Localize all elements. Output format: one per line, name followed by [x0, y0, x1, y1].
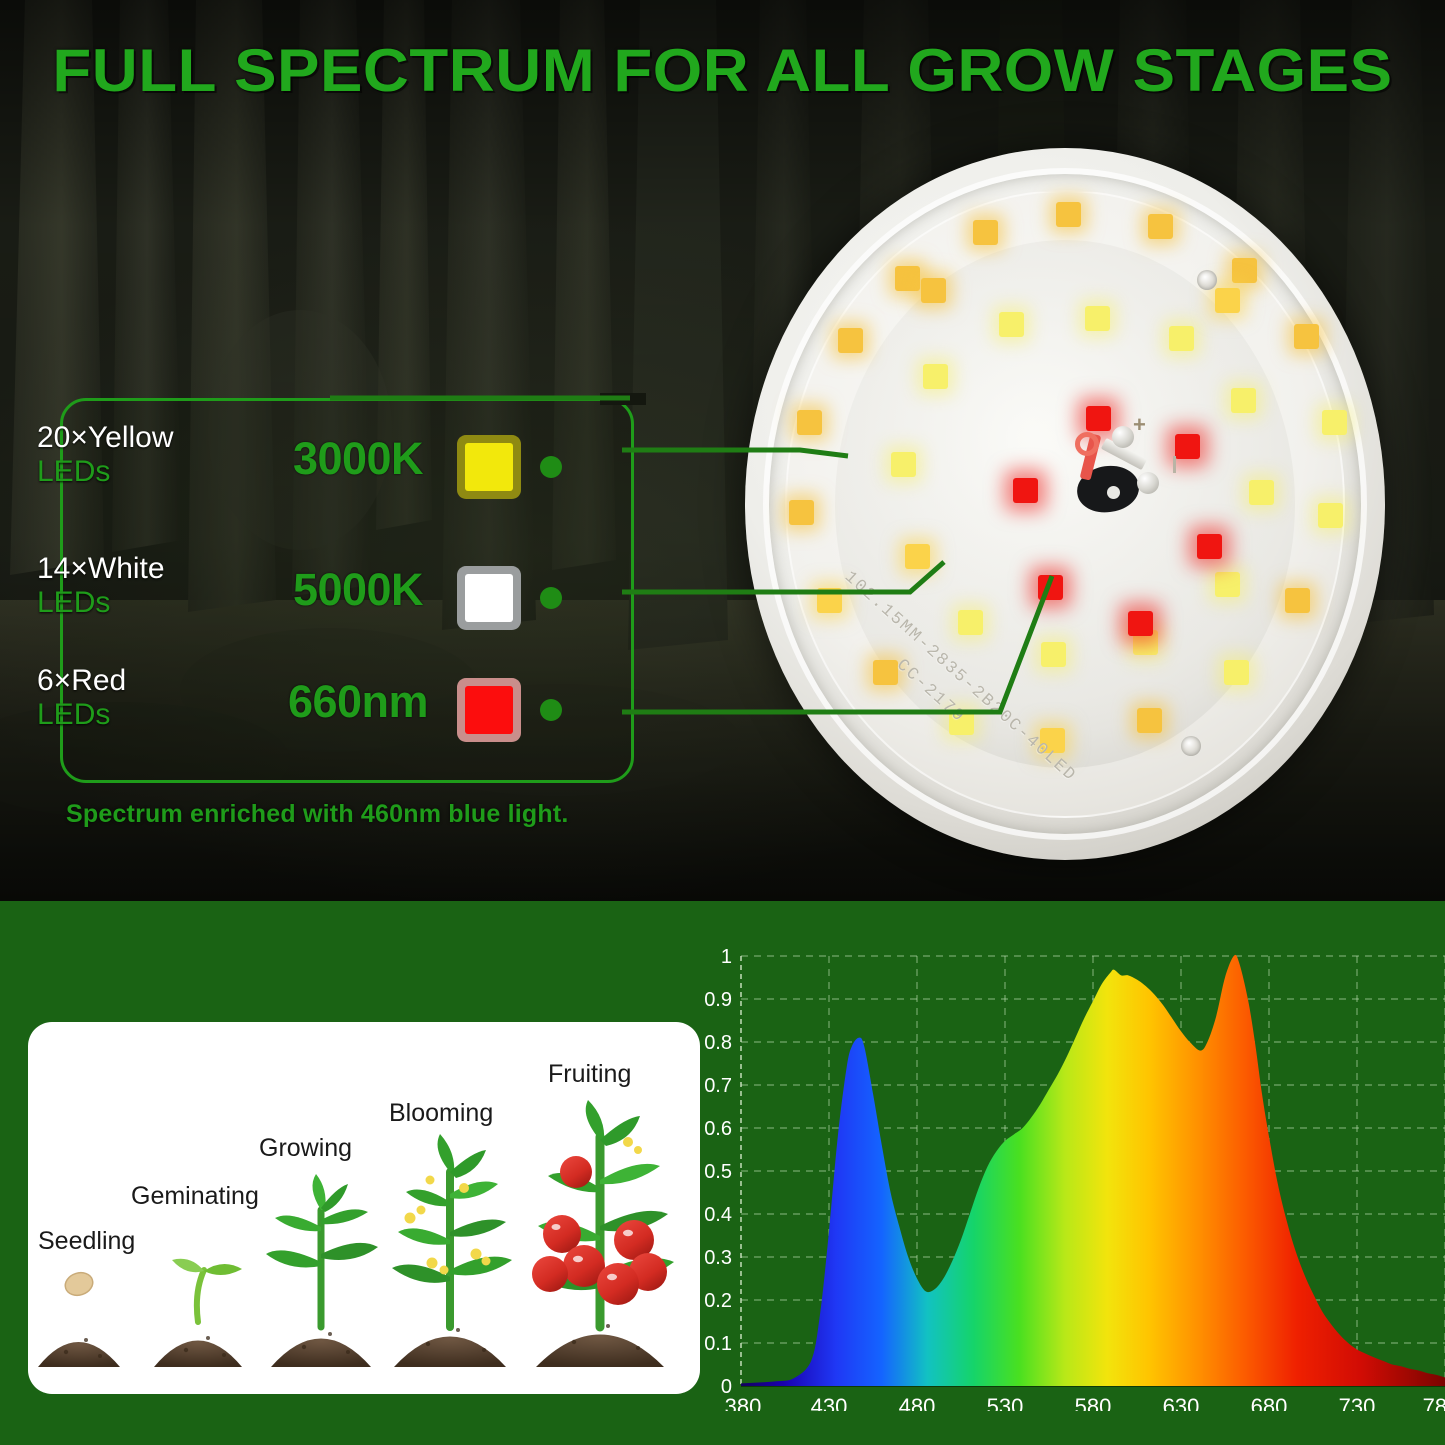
stage-growing-plant — [266, 1174, 378, 1327]
led-chip-yellow — [789, 500, 814, 525]
x-axis-tick-label: 680 — [1251, 1394, 1288, 1411]
led-chip-white — [958, 610, 983, 635]
led-chip-yellow — [895, 266, 920, 291]
led-chip-white — [1215, 572, 1240, 597]
spectrum-chart: 00.10.20.30.40.50.60.70.80.91 3804304805… — [700, 931, 1445, 1411]
y-axis-tick-label: 0.2 — [704, 1290, 732, 1312]
wire-ring-terminal — [1075, 432, 1099, 456]
y-axis-tick-label: 0.9 — [704, 989, 732, 1011]
x-axis-tick-label: 380 — [725, 1394, 762, 1411]
spec-leds-red: LEDs — [37, 698, 287, 732]
leader-dot-red — [540, 699, 562, 721]
y-axis-tick-label: 0.1 — [704, 1333, 732, 1355]
spectrum-footnote: Spectrum enriched with 460nm blue light. — [66, 800, 569, 829]
spec-box-line-gap — [600, 393, 646, 405]
color-swatch-white — [465, 574, 513, 622]
led-chip-white — [1224, 660, 1249, 685]
y-axis-tick-label: 1 — [721, 946, 732, 968]
leader-dot-yellow — [540, 456, 562, 478]
page-title: FULL SPECTRUM FOR ALL GROW STAGES — [0, 36, 1445, 105]
color-swatch-yellow — [465, 443, 513, 491]
led-chip-yellow — [1056, 202, 1081, 227]
led-chip-yellow — [797, 410, 822, 435]
spec-row-yellow: 20×Yellow LEDs 3000K — [0, 415, 574, 525]
led-chip-yellow — [1215, 288, 1240, 313]
led-chip-red — [1197, 534, 1222, 559]
x-axis-tick-label: 580 — [1075, 1394, 1112, 1411]
led-chip-yellow — [817, 588, 842, 613]
color-swatch-red — [465, 686, 513, 734]
led-chip-yellow — [921, 278, 946, 303]
spec-value-660nm: 660nm — [253, 676, 463, 728]
spec-label-red: 6×Red LEDs — [37, 664, 287, 731]
soil-mounds — [38, 1324, 664, 1367]
polarity-plus-icon: + — [1133, 412, 1146, 438]
spec-leds-white: LEDs — [37, 586, 287, 620]
led-chip-red — [1086, 406, 1111, 431]
y-axis-tick-label: 0.5 — [704, 1161, 732, 1183]
spec-leds-yellow: LEDs — [37, 455, 287, 489]
bottom-panel: Seedling Geminating Growing Blooming Fru… — [0, 901, 1445, 1445]
y-axis-tick-label: 0.3 — [704, 1247, 732, 1269]
center-solder-dot — [1107, 486, 1120, 499]
mounting-screw — [1197, 270, 1217, 290]
x-axis-tick-label: 430 — [811, 1394, 848, 1411]
led-board-photo: + 102.15MM-2835-2B20C-40LED CC-2179 — [745, 148, 1385, 873]
led-chip-white — [1085, 306, 1110, 331]
x-axis-tick-label: 780 — [1423, 1394, 1445, 1411]
y-axis-tick-label: 0.8 — [704, 1032, 732, 1054]
led-chip-red — [1013, 478, 1038, 503]
chart-x-axis-labels: 380430480530580630680730780 — [725, 1394, 1445, 1411]
y-axis-tick-label: 0.7 — [704, 1075, 732, 1097]
product-infographic: FULL SPECTRUM FOR ALL GROW STAGES 20×Yel… — [0, 0, 1445, 1445]
stage-geminating-plant — [172, 1259, 242, 1322]
spec-row-white: 14×White LEDs 5000K — [0, 546, 574, 656]
led-chip-white — [1249, 480, 1274, 505]
spec-count-white: 14×White — [37, 552, 287, 586]
led-chip-yellow — [1294, 324, 1319, 349]
y-axis-tick-label: 0.4 — [704, 1204, 732, 1226]
stage-seedling-plant — [62, 1269, 95, 1299]
polarity-minus-icon — [1173, 456, 1176, 473]
led-chip-yellow — [1285, 588, 1310, 613]
led-chip-red — [1038, 575, 1063, 600]
spectrum-chart-svg: 00.10.20.30.40.50.60.70.80.91 3804304805… — [700, 931, 1445, 1411]
spec-count-yellow: 20×Yellow — [37, 421, 287, 455]
leader-dot-white — [540, 587, 562, 609]
led-chip-yellow — [973, 220, 998, 245]
x-axis-tick-label: 530 — [987, 1394, 1024, 1411]
spec-value-3000k: 3000K — [253, 433, 463, 485]
stage-fruiting-plant — [532, 1100, 674, 1327]
led-chip-white — [923, 364, 948, 389]
chart-y-axis-labels: 00.10.20.30.40.50.60.70.80.91 — [704, 946, 732, 1398]
mounting-screw — [1181, 736, 1201, 756]
spec-label-yellow: 20×Yellow LEDs — [37, 421, 287, 488]
x-axis-tick-label: 730 — [1339, 1394, 1376, 1411]
led-chip-white — [1322, 410, 1347, 435]
led-chip-red — [1128, 611, 1153, 636]
stage-blooming-plant — [392, 1134, 512, 1327]
led-chip-yellow — [1232, 258, 1257, 283]
spec-row-red: 6×Red LEDs 660nm — [0, 658, 574, 768]
y-axis-tick-label: 0.6 — [704, 1118, 732, 1140]
led-chip-white — [891, 452, 916, 477]
led-chip-yellow — [905, 544, 930, 569]
led-chip-white — [999, 312, 1024, 337]
spec-value-5000k: 5000K — [253, 564, 463, 616]
solder-ball — [1137, 472, 1159, 494]
led-chip-white — [1169, 326, 1194, 351]
growth-stages-illustration — [28, 1022, 700, 1394]
led-pcb-area — [835, 240, 1295, 768]
led-chip-white — [1231, 388, 1256, 413]
x-axis-tick-label: 630 — [1163, 1394, 1200, 1411]
led-chip-yellow — [1137, 708, 1162, 733]
top-panel: FULL SPECTRUM FOR ALL GROW STAGES 20×Yel… — [0, 0, 1445, 901]
led-chip-white — [1318, 503, 1343, 528]
solder-ball — [1112, 426, 1134, 448]
spec-count-red: 6×Red — [37, 664, 287, 698]
growth-stages-card: Seedling Geminating Growing Blooming Fru… — [28, 1022, 700, 1394]
led-chip-yellow — [838, 328, 863, 353]
x-axis-tick-label: 480 — [899, 1394, 936, 1411]
led-chip-white — [1041, 642, 1066, 667]
led-chip-red — [1175, 434, 1200, 459]
spec-label-white: 14×White LEDs — [37, 552, 287, 619]
led-chip-yellow — [1148, 214, 1173, 239]
